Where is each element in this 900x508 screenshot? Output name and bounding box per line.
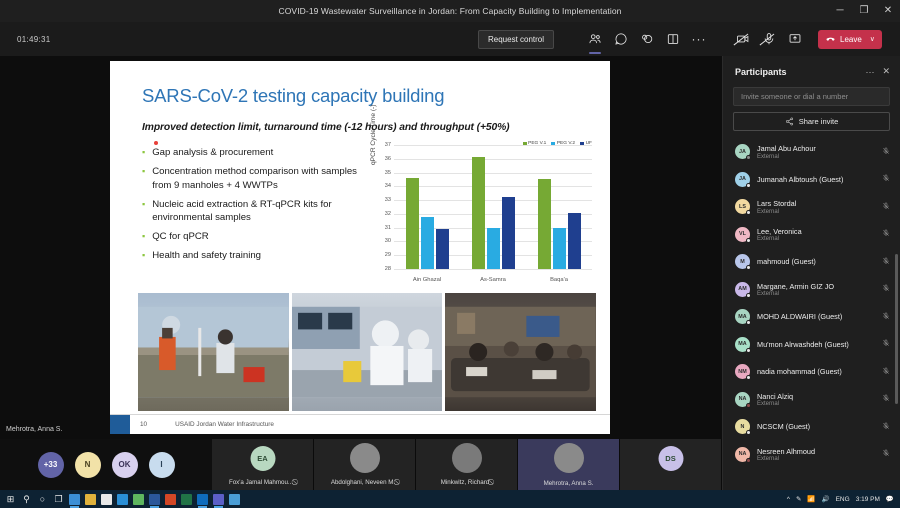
chart-bar bbox=[568, 213, 581, 269]
participant-mic-muted-icon[interactable] bbox=[878, 338, 890, 350]
presence-indicator bbox=[746, 155, 751, 160]
qpcr-bar-chart: qPCR Cycle Time (-) PEG V.1PEG V.2UF 373… bbox=[372, 143, 594, 285]
tray-avatar[interactable]: +33 bbox=[38, 452, 64, 478]
participant-info: Margane, Armin GIZ JOExternal bbox=[757, 282, 878, 298]
slide-number: 10 bbox=[140, 421, 147, 428]
bullet-marker-icon: ▪ bbox=[142, 230, 145, 244]
tray-network-icon[interactable]: 📶 bbox=[807, 495, 815, 503]
tile-name: Minkwitz, Richard⃠ bbox=[416, 479, 517, 487]
hangup-icon bbox=[825, 34, 836, 45]
participant-name: Lars Stordal bbox=[757, 199, 878, 208]
participant-subtitle: External bbox=[757, 401, 878, 407]
tray-video-tiles: EAFox'a Jamal Mahmou...⃠Abdolghani, Neve… bbox=[212, 439, 722, 490]
slide-bullet: ▪Concentration method comparison with sa… bbox=[142, 165, 377, 192]
slide-title: SARS-CoV-2 testing capacity building bbox=[142, 85, 444, 107]
chart-bar bbox=[472, 157, 485, 269]
tile-avatar: EA bbox=[250, 446, 275, 471]
presence-indicator bbox=[746, 320, 751, 325]
participant-subtitle: External bbox=[757, 291, 878, 297]
participant-info: Jamal Abu AchourExternal bbox=[757, 144, 878, 160]
bullet-text: Concentration method comparison with sam… bbox=[152, 165, 377, 192]
teams-icon[interactable] bbox=[213, 494, 224, 505]
clock[interactable]: 3:19 PM bbox=[856, 496, 880, 503]
search-icon[interactable]: ⚲ bbox=[21, 494, 32, 505]
participant-name: Jumanah Albtoush (Guest) bbox=[757, 175, 878, 184]
taskbar-pinned-apps bbox=[64, 494, 240, 505]
chart-bar bbox=[487, 228, 500, 269]
chart-y-tick: 31 bbox=[385, 225, 391, 231]
participant-info: Jumanah Albtoush (Guest) bbox=[757, 175, 878, 184]
language-indicator[interactable]: ENG bbox=[836, 496, 850, 503]
chart-bar-group bbox=[394, 145, 460, 269]
participant-mic-muted-icon[interactable] bbox=[878, 173, 890, 185]
invite-input[interactable]: Invite someone or dial a number bbox=[733, 87, 890, 106]
bullet-text: Nucleic acid extraction & RT-qPCR kits f… bbox=[152, 198, 377, 225]
presence-indicator bbox=[746, 238, 751, 243]
participant-row[interactable]: Mmahmoud (Guest) bbox=[723, 248, 900, 276]
bullet-marker-icon: ▪ bbox=[142, 249, 145, 263]
presence-indicator bbox=[746, 210, 751, 215]
cortana-icon[interactable]: ○ bbox=[37, 494, 48, 505]
presenter-name: Mehrotra, Anna S. bbox=[6, 426, 62, 433]
participant-name: Margane, Armin GIZ JO bbox=[757, 282, 878, 291]
slide-bullet: ▪Health and safety training bbox=[142, 249, 377, 263]
edge-icon[interactable] bbox=[69, 494, 80, 505]
bullet-marker-icon: ▪ bbox=[142, 198, 145, 225]
window-titlebar: COVID-19 Wastewater Surveillance in Jord… bbox=[0, 0, 900, 22]
avatar: NM bbox=[735, 364, 750, 379]
slide-photo-row bbox=[138, 293, 596, 411]
tray-avatar[interactable]: OK bbox=[112, 452, 138, 478]
mail-icon[interactable] bbox=[117, 494, 128, 505]
presence-indicator bbox=[746, 430, 751, 435]
reactions-icon[interactable] bbox=[634, 26, 660, 52]
windows-taskbar: ⊞ ⚲ ○ ❐ ^ ✎ 📶 🔊 ENG 3:19 PM 💬 bbox=[0, 490, 900, 508]
participant-info: Nesreen AlhmoudExternal bbox=[757, 447, 878, 463]
avatar: M bbox=[735, 254, 750, 269]
participant-mic-muted-icon[interactable] bbox=[878, 448, 890, 460]
bullet-marker-icon: ▪ bbox=[142, 165, 145, 192]
presence-indicator bbox=[746, 458, 751, 463]
teams-meeting-window: COVID-19 Wastewater Surveillance in Jord… bbox=[0, 0, 900, 508]
video-tile[interactable]: Mehrotra, Anna S. bbox=[518, 439, 620, 490]
participants-header: Participants ··· ✕ bbox=[723, 56, 900, 83]
shared-content-stage[interactable]: Mehrotra, Anna S. SARS-CoV-2 testing cap… bbox=[0, 56, 722, 439]
participant-mic-muted-icon[interactable] bbox=[878, 256, 890, 268]
breakout-rooms-icon[interactable] bbox=[660, 26, 686, 52]
word-icon[interactable] bbox=[149, 494, 160, 505]
participants-title: Participants bbox=[735, 67, 857, 77]
bullet-text: Health and safety training bbox=[152, 249, 261, 263]
participant-mic-muted-icon[interactable] bbox=[878, 146, 890, 158]
maximize-button[interactable]: ❐ bbox=[852, 0, 876, 22]
participant-mic-muted-icon[interactable] bbox=[878, 201, 890, 213]
participant-row[interactable]: VLLee, VeronicaExternal bbox=[723, 221, 900, 249]
presence-indicator bbox=[746, 403, 751, 408]
chart-bar bbox=[553, 228, 566, 269]
tile-video-feed bbox=[554, 443, 584, 473]
meeting-controls: ··· bbox=[582, 26, 712, 52]
chart-y-tick: 30 bbox=[385, 238, 391, 244]
taskbar-apps: ⊞ ⚲ ○ ❐ bbox=[0, 494, 64, 505]
chat-icon[interactable] bbox=[608, 26, 634, 52]
bullet-marker-icon: ▪ bbox=[142, 146, 145, 160]
chart-y-tick: 33 bbox=[385, 197, 391, 203]
tile-video-feed bbox=[350, 443, 380, 473]
photo-training-room bbox=[445, 293, 596, 411]
participant-row[interactable]: JAJamal Abu AchourExternal bbox=[723, 138, 900, 166]
participant-name: MOHD ALDWAIRI (Guest) bbox=[757, 312, 878, 321]
chart-bar bbox=[421, 217, 434, 269]
avatar: NA bbox=[735, 392, 750, 407]
chrome-icon[interactable] bbox=[133, 494, 144, 505]
participant-info: Lars StordalExternal bbox=[757, 199, 878, 215]
participant-name: nadia mohammad (Guest) bbox=[757, 367, 878, 376]
slide-subtitle: Improved detection limit, turnaround tim… bbox=[142, 122, 510, 133]
share-screen-icon[interactable] bbox=[782, 26, 808, 52]
footer-accent-block bbox=[110, 415, 130, 435]
chart-y-tick: 35 bbox=[385, 170, 391, 176]
chart-y-tick: 37 bbox=[385, 142, 391, 148]
photo-field-sampling bbox=[138, 293, 289, 411]
participant-mic-muted-icon[interactable] bbox=[878, 421, 890, 433]
share-invite-label: Share invite bbox=[799, 117, 839, 126]
presence-indicator bbox=[746, 293, 751, 298]
people-icon[interactable] bbox=[582, 26, 608, 52]
participant-row[interactable]: MAMu'mon Alrwashdeh (Guest) bbox=[723, 331, 900, 359]
participant-row[interactable]: MAMOHD ALDWAIRI (Guest) bbox=[723, 303, 900, 331]
chart-bar bbox=[436, 229, 449, 269]
bullet-text: Gap analysis & procurement bbox=[152, 146, 273, 160]
window-title: COVID-19 Wastewater Surveillance in Jord… bbox=[278, 6, 621, 16]
video-tile[interactable]: Minkwitz, Richard⃠ bbox=[416, 439, 518, 490]
request-control-button[interactable]: Request control bbox=[478, 30, 554, 49]
participant-video-tray: +33NOKI EAFox'a Jamal Mahmou...⃠Abdolgha… bbox=[0, 439, 722, 490]
slide-bullet-list: ▪Gap analysis & procurement▪Concentratio… bbox=[142, 146, 377, 268]
avatar: LS bbox=[735, 199, 750, 214]
meeting-timer: 01:49:31 bbox=[17, 35, 51, 44]
participant-mic-muted-icon[interactable] bbox=[878, 366, 890, 378]
avatar: JA bbox=[735, 172, 750, 187]
chart-x-tick: As-Samra bbox=[460, 277, 526, 283]
meeting-toolbar: 01:49:31 Request control ··· bbox=[0, 22, 900, 56]
leave-label: Leave bbox=[840, 35, 862, 44]
participant-name: mahmoud (Guest) bbox=[757, 257, 878, 266]
tray-volume-icon[interactable]: 🔊 bbox=[822, 495, 830, 503]
participant-info: mahmoud (Guest) bbox=[757, 257, 878, 266]
chart-y-tick: 36 bbox=[385, 156, 391, 162]
avatar: AM bbox=[735, 282, 750, 297]
slide-footer-text: USAID Jordan Water Infrastructure bbox=[175, 421, 274, 428]
participant-name: Mu'mon Alrwashdeh (Guest) bbox=[757, 340, 878, 349]
chart-gridline: 28 bbox=[394, 269, 592, 270]
participant-name: NCSCM (Guest) bbox=[757, 422, 878, 431]
participant-subtitle: External bbox=[757, 456, 878, 462]
chart-bar-group bbox=[460, 145, 526, 269]
chart-bar bbox=[538, 179, 551, 269]
participant-row[interactable]: NANesreen AlhmoudExternal bbox=[723, 441, 900, 469]
participant-name: Nanci Alziq bbox=[757, 392, 878, 401]
participant-subtitle: External bbox=[757, 236, 878, 242]
av-controls: Leave ∨ bbox=[730, 26, 882, 52]
slide-footer: 10 USAID Jordan Water Infrastructure bbox=[110, 414, 610, 434]
participant-name: Jamal Abu Achour bbox=[757, 144, 878, 153]
tile-name: Fox'a Jamal Mahmou...⃠ bbox=[212, 479, 313, 487]
participant-mic-muted-icon[interactable] bbox=[878, 311, 890, 323]
tile-video-feed bbox=[452, 443, 482, 473]
request-control-area: Request control bbox=[478, 30, 554, 49]
participant-row[interactable]: AMMargane, Armin GIZ JOExternal bbox=[723, 276, 900, 304]
chart-y-tick: 29 bbox=[385, 252, 391, 258]
notifications-icon[interactable]: 💬 bbox=[886, 495, 894, 503]
panel-more-icon[interactable]: ··· bbox=[865, 67, 874, 77]
laser-pointer-dot bbox=[154, 141, 158, 145]
participants-list[interactable]: JAJamal Abu AchourExternalJAJumanah Albt… bbox=[723, 138, 900, 508]
participant-info: nadia mohammad (Guest) bbox=[757, 367, 878, 376]
excel-icon[interactable] bbox=[181, 494, 192, 505]
camera-off-icon[interactable] bbox=[730, 26, 756, 52]
participant-row[interactable]: NANanci AlziqExternal bbox=[723, 386, 900, 414]
close-button[interactable]: ✕ bbox=[876, 0, 900, 22]
video-tile[interactable]: EAFox'a Jamal Mahmou...⃠ bbox=[212, 439, 314, 490]
outlook-icon[interactable] bbox=[197, 494, 208, 505]
participant-info: NCSCM (Guest) bbox=[757, 422, 878, 431]
chart-x-tick: Baqa'a bbox=[526, 277, 592, 283]
participant-mic-muted-icon[interactable] bbox=[878, 283, 890, 295]
participant-row[interactable]: NMnadia mohammad (Guest) bbox=[723, 358, 900, 386]
avatar: MA bbox=[735, 309, 750, 324]
participant-row[interactable]: NNCSCM (Guest) bbox=[723, 413, 900, 441]
tray-avatar[interactable]: N bbox=[75, 452, 101, 478]
chart-x-axis-labels: Ain GhazalAs-SamraBaqa'a bbox=[394, 277, 592, 283]
share-icon bbox=[785, 117, 794, 126]
slide-bullet: ▪QC for qPCR bbox=[142, 230, 377, 244]
more-options-icon[interactable]: ··· bbox=[686, 26, 712, 52]
presentation-slide: SARS-CoV-2 testing capacity building Imp… bbox=[110, 61, 610, 434]
chart-x-tick: Ain Ghazal bbox=[394, 277, 460, 283]
participant-info: Mu'mon Alrwashdeh (Guest) bbox=[757, 340, 878, 349]
participant-info: Lee, VeronicaExternal bbox=[757, 227, 878, 243]
start-button[interactable]: ⊞ bbox=[5, 494, 16, 505]
tile-name: Abdolghani, Neveen M.⃠ bbox=[314, 479, 415, 487]
chart-bar-group bbox=[526, 145, 592, 269]
participant-mic-muted-icon[interactable] bbox=[878, 228, 890, 240]
video-tile[interactable]: Abdolghani, Neveen M.⃠ bbox=[314, 439, 416, 490]
tray-chevron-icon[interactable]: ^ bbox=[787, 496, 790, 503]
minimize-button[interactable]: ─ bbox=[828, 0, 852, 22]
chart-plot-area: 37363534333231302928 bbox=[394, 145, 592, 269]
chart-bars bbox=[394, 145, 592, 269]
slide-bullet: ▪Nucleic acid extraction & RT-qPCR kits … bbox=[142, 198, 377, 225]
participant-name: Lee, Veronica bbox=[757, 227, 878, 236]
bullet-text: QC for qPCR bbox=[152, 230, 209, 244]
avatar: NA bbox=[735, 447, 750, 462]
tile-avatar: DS bbox=[658, 446, 683, 471]
invite-placeholder: Invite someone or dial a number bbox=[741, 92, 848, 101]
chart-y-tick: 28 bbox=[385, 266, 391, 272]
presence-indicator bbox=[746, 348, 751, 353]
video-tile[interactable]: DS bbox=[620, 439, 722, 490]
task-view-icon[interactable]: ❐ bbox=[53, 494, 64, 505]
leave-caret-icon[interactable]: ∨ bbox=[870, 35, 875, 43]
window-controls: ─ ❐ ✕ bbox=[828, 0, 900, 22]
settings-icon[interactable] bbox=[229, 494, 240, 505]
presence-indicator bbox=[746, 265, 751, 270]
chart-y-axis-label: qPCR Cycle Time (-) bbox=[370, 65, 377, 165]
leave-button[interactable]: Leave ∨ bbox=[818, 30, 882, 49]
tray-avatar[interactable]: I bbox=[149, 452, 175, 478]
participants-panel: Participants ··· ✕ Invite someone or dia… bbox=[722, 56, 900, 508]
share-invite-button[interactable]: Share invite bbox=[733, 112, 890, 131]
presence-indicator bbox=[746, 375, 751, 380]
system-tray: ^ ✎ 📶 🔊 ENG 3:19 PM 💬 bbox=[787, 495, 894, 503]
avatar: VL bbox=[735, 227, 750, 242]
presence-indicator bbox=[746, 183, 751, 188]
mic-off-icon[interactable] bbox=[756, 26, 782, 52]
participant-subtitle: External bbox=[757, 209, 878, 215]
chart-y-tick: 32 bbox=[385, 211, 391, 217]
participant-row[interactable]: JAJumanah Albtoush (Guest) bbox=[723, 166, 900, 194]
panel-close-icon[interactable]: ✕ bbox=[882, 66, 890, 77]
store-icon[interactable] bbox=[101, 494, 112, 505]
participant-mic-muted-icon[interactable] bbox=[878, 393, 890, 405]
participant-info: MOHD ALDWAIRI (Guest) bbox=[757, 312, 878, 321]
tray-pen-icon[interactable]: ✎ bbox=[796, 495, 801, 503]
powerpoint-icon[interactable] bbox=[165, 494, 176, 505]
tile-name: Mehrotra, Anna S. bbox=[518, 480, 619, 487]
chart-y-tick: 34 bbox=[385, 183, 391, 189]
explorer-icon[interactable] bbox=[85, 494, 96, 505]
participant-name: Nesreen Alhmoud bbox=[757, 447, 878, 456]
participant-subtitle: External bbox=[757, 154, 878, 160]
participants-scrollbar[interactable] bbox=[895, 254, 898, 404]
avatar: MA bbox=[735, 337, 750, 352]
chart-bar bbox=[406, 178, 419, 269]
photo-lab-work bbox=[292, 293, 443, 411]
slide-bullet: ▪Gap analysis & procurement bbox=[142, 146, 377, 160]
avatar: N bbox=[735, 419, 750, 434]
participant-row[interactable]: LSLars StordalExternal bbox=[723, 193, 900, 221]
avatar: JA bbox=[735, 144, 750, 159]
participant-info: Nanci AlziqExternal bbox=[757, 392, 878, 408]
chart-bar bbox=[502, 197, 515, 269]
tray-avatar-group: +33NOKI bbox=[0, 439, 212, 490]
